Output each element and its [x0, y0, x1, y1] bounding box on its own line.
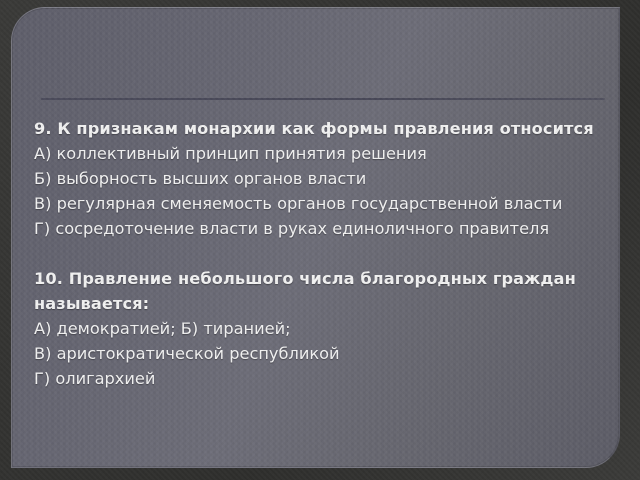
question-9-heading: 9. К признакам монархии как формы правле…	[34, 116, 605, 141]
question-10-option-g: Г) олигархией	[34, 366, 605, 391]
slide: 9. К признакам монархии как формы правле…	[0, 0, 640, 480]
question-9-option-g: Г) сосредоточение власти в руках единоли…	[34, 216, 605, 241]
question-9-option-a: А) коллективный принцип принятия решения	[34, 141, 605, 166]
question-10-option-v: В) аристократической республикой	[34, 341, 605, 366]
slide-body-text: 9. К признакам монархии как формы правле…	[34, 116, 605, 391]
question-10-option-a-b: А) демократией; Б) тиранией;	[34, 316, 605, 341]
content-panel: 9. К признакам монархии как формы правле…	[11, 7, 620, 468]
question-10-heading: 10. Правление небольшого числа благородн…	[34, 266, 605, 316]
question-block-spacer	[34, 241, 605, 266]
horizontal-rule-divider	[41, 98, 605, 100]
question-9-option-v: В) регулярная сменяемость органов госуда…	[34, 191, 605, 216]
question-9-option-b: Б) выборность высших органов власти	[34, 166, 605, 191]
